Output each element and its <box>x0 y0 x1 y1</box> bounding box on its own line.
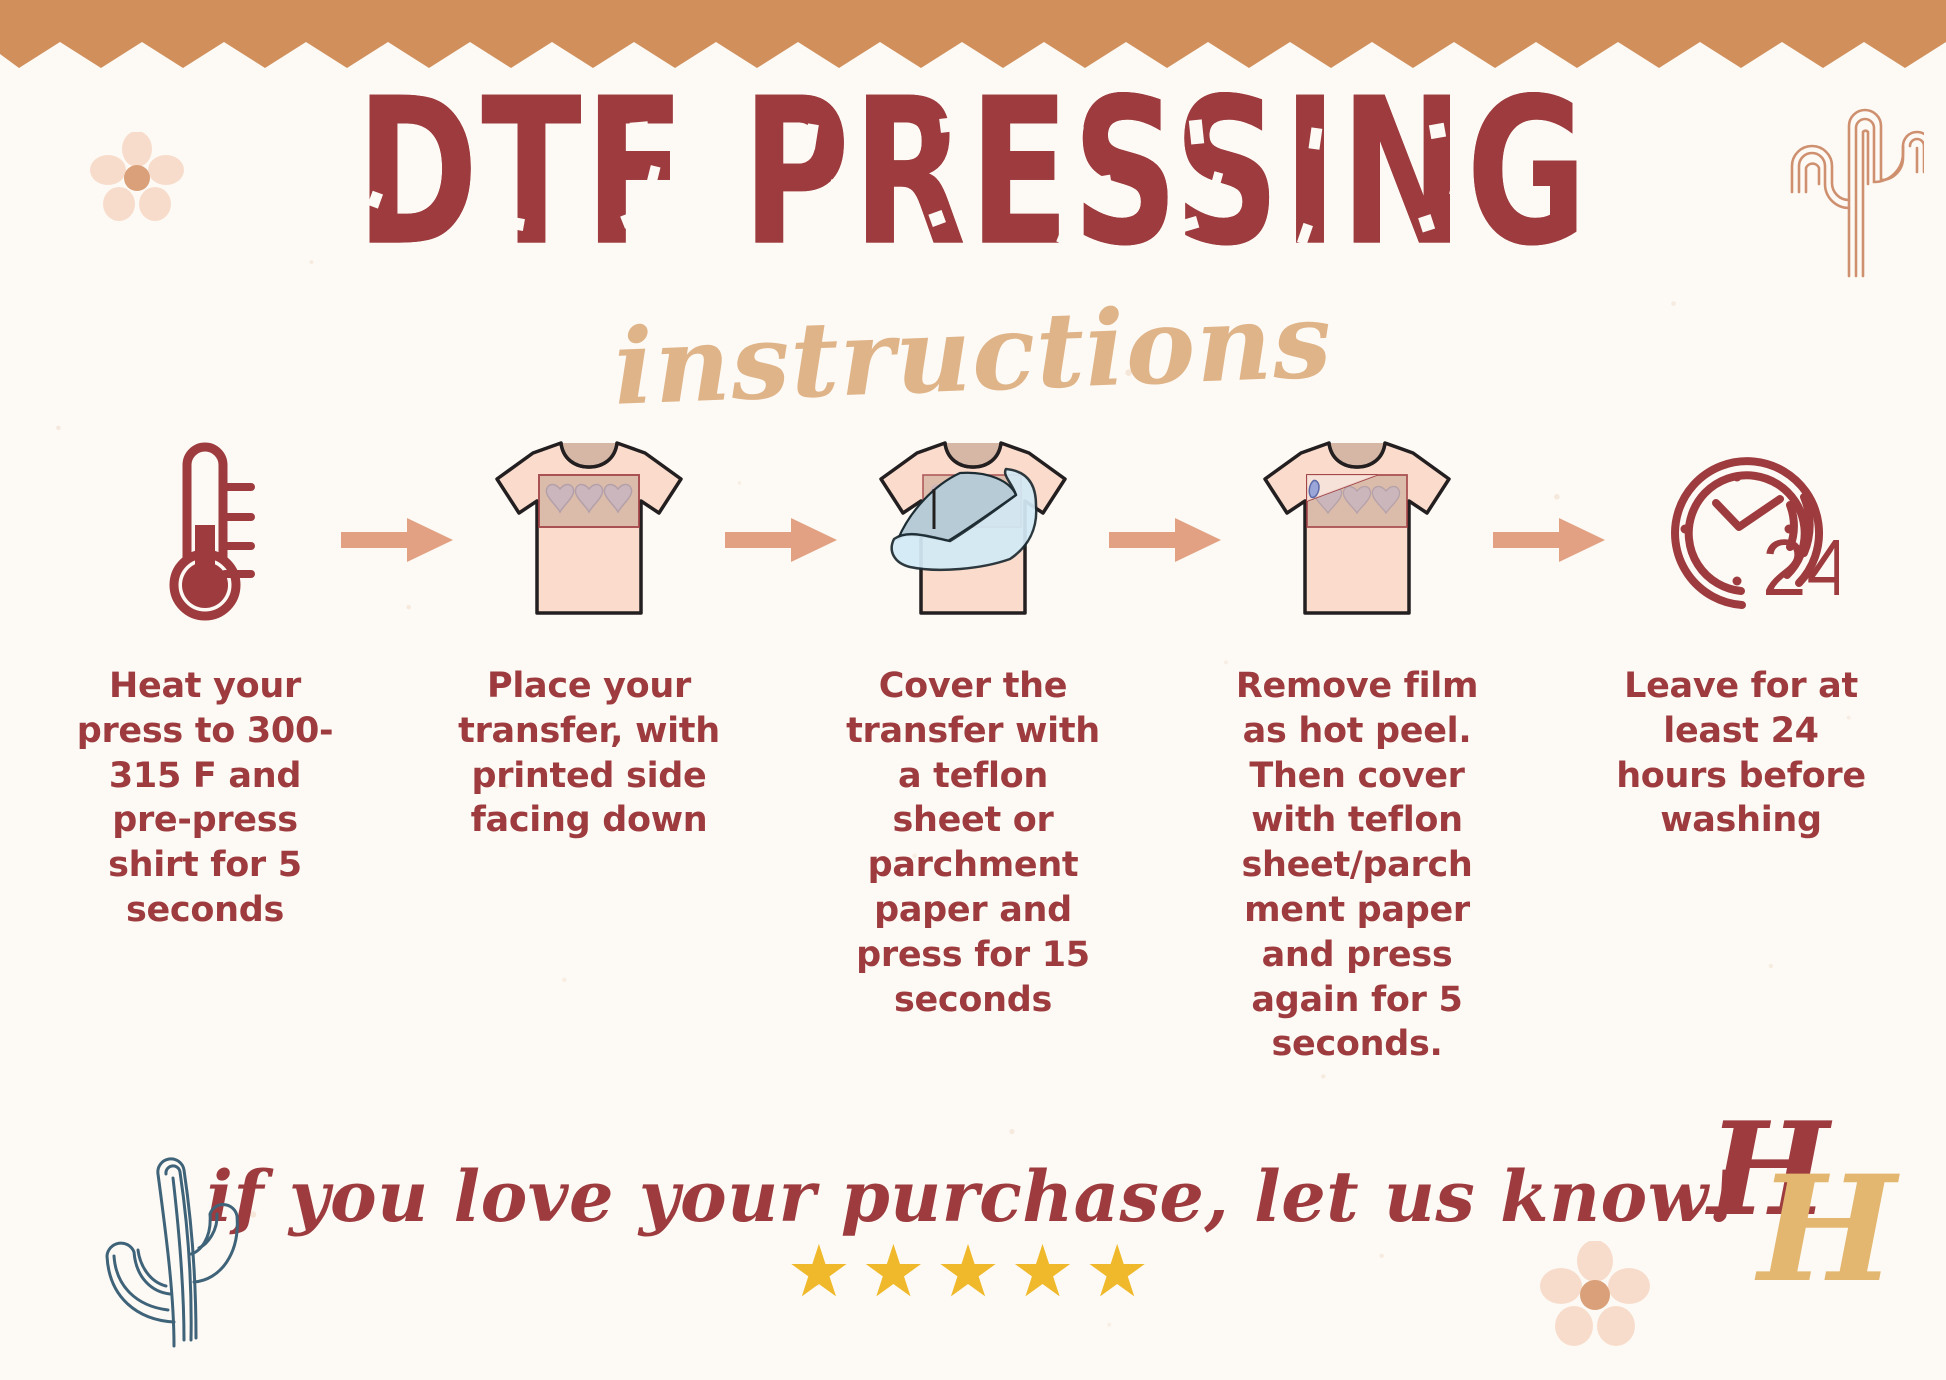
step-1-icon <box>145 430 265 630</box>
arrow-right-icon <box>1493 518 1605 562</box>
star-icon: ★★★★★ <box>787 1236 1160 1308</box>
clock-24-hours-icon: 24 <box>1644 435 1839 625</box>
step-5-icon: 24 <box>1644 430 1839 630</box>
arrow-1 <box>336 430 458 562</box>
step-3-icon <box>868 430 1078 630</box>
footer-message: if you love your purchase, let us know! <box>0 1155 1946 1238</box>
arrow-right-icon <box>725 518 837 562</box>
cactus-bottom-left <box>78 1134 243 1354</box>
tshirt-with-transfer-icon <box>489 433 689 628</box>
thermometer-icon <box>145 433 265 628</box>
flower-icon <box>1540 1241 1650 1351</box>
cactus-icon <box>78 1134 243 1349</box>
header-block: DTF PRESSING <box>0 88 1946 257</box>
step-1: Heat your press to 300-315 F and pre-pre… <box>74 430 336 933</box>
step-3-text: Cover the transfer with a teflon sheet o… <box>842 664 1104 1022</box>
arrow-right-icon <box>1109 518 1221 562</box>
arrow-2 <box>720 430 842 562</box>
step-4-icon <box>1257 430 1457 630</box>
step-2-icon <box>489 430 689 630</box>
page-title: DTF PRESSING <box>78 76 1868 269</box>
tshirt-with-teflon-sheet-icon <box>868 433 1078 628</box>
arrow-right-icon <box>341 518 453 562</box>
flower-bottom-right <box>1540 1241 1650 1356</box>
step-4: Remove film as hot peel. Then cover with… <box>1226 430 1488 1067</box>
arrow-3 <box>1104 430 1226 562</box>
flower-top-left <box>90 132 184 231</box>
star-rating: ★★★★★ <box>0 1236 1946 1308</box>
logo-monogram: H H <box>1700 1102 1900 1302</box>
step-3: Cover the transfer with a teflon sheet o… <box>842 430 1104 1022</box>
step-5: 24 Leave for at least 24 hours before wa… <box>1610 430 1872 843</box>
cactus-top-right <box>1774 88 1924 283</box>
hh-monogram-logo: H H <box>1700 1102 1900 1297</box>
clock-hours-label: 24 <box>1762 523 1839 612</box>
step-2-text: Place your transfer, with printed side f… <box>458 664 720 843</box>
arrow-4 <box>1488 430 1610 562</box>
step-4-text: Remove film as hot peel. Then cover with… <box>1226 664 1488 1067</box>
steps-row: Heat your press to 300-315 F and pre-pre… <box>0 430 1946 1067</box>
step-1-text: Heat your press to 300-315 F and pre-pre… <box>74 664 336 933</box>
flower-icon <box>90 132 184 226</box>
monogram-letter-2: H <box>1754 1144 1900 1297</box>
tshirt-peeling-film-icon <box>1257 433 1457 628</box>
step-5-text: Leave for at least 24 hours before washi… <box>1610 664 1872 843</box>
cactus-icon <box>1774 88 1924 278</box>
step-2: Place your transfer, with printed side f… <box>458 430 720 843</box>
